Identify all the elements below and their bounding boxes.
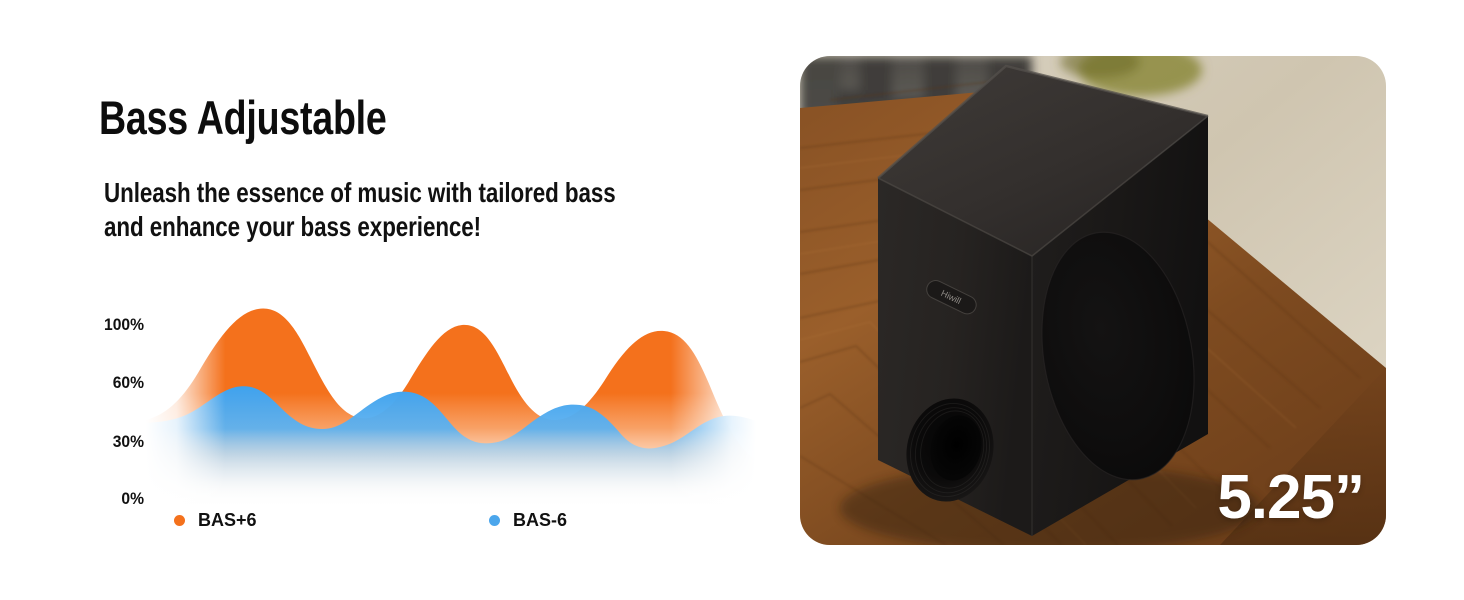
legend-item-bas-minus-6[interactable]: BAS-6: [489, 507, 567, 533]
legend-label-bas-minus-6: BAS-6: [513, 510, 567, 531]
page-subtitle: Unleash the essence of music with tailor…: [104, 176, 616, 244]
y-tick-60: 60%: [92, 373, 144, 393]
bass-response-chart: 100% 60% 30% 0%: [96, 295, 756, 555]
y-tick-30: 30%: [92, 432, 144, 452]
product-photo: Hiwill 5.25”: [800, 56, 1386, 545]
legend-dot-blue-icon: [489, 515, 500, 526]
chart-legend: BAS+6 BAS-6: [174, 507, 694, 537]
legend-label-bas-plus-6: BAS+6: [198, 510, 257, 531]
legend-item-bas-plus-6[interactable]: BAS+6: [174, 507, 257, 533]
subwoofer-speaker: Hiwill: [878, 66, 1213, 536]
subtitle-line-1: Unleash the essence of music with tailor…: [104, 176, 616, 210]
legend-dot-orange-icon: [174, 515, 185, 526]
info-panel: Bass Adjustable Unleash the essence of m…: [0, 0, 790, 600]
chart-edge-fade: [146, 295, 756, 510]
size-badge: 5.25”: [1217, 467, 1364, 529]
chart-y-axis: 100% 60% 30% 0%: [88, 295, 144, 510]
y-tick-0: 0%: [92, 489, 144, 509]
page-title: Bass Adjustable: [99, 93, 387, 143]
y-tick-100: 100%: [92, 315, 144, 335]
chart-plot-area: [146, 295, 756, 510]
subtitle-line-2: and enhance your bass experience!: [104, 210, 616, 244]
